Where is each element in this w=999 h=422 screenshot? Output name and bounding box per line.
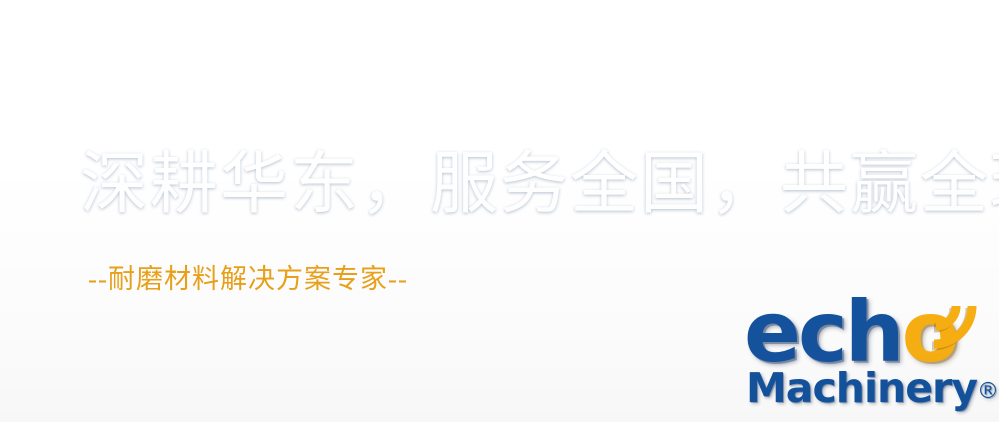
hero-banner: 深耕华东，服务全国，共赢全球 --耐磨材料解决方案专家-- echo Machi… xyxy=(0,0,999,422)
signal-arcs-icon xyxy=(920,292,984,356)
registered-trademark-icon: ® xyxy=(977,379,999,404)
logo-tagline-text: Machinery xyxy=(746,364,977,412)
banner-headline: 深耕华东，服务全国，共赢全球 xyxy=(80,150,999,218)
company-logo[interactable]: echo Machinery® xyxy=(744,296,994,422)
banner-subheadline: --耐磨材料解决方案专家-- xyxy=(88,266,408,293)
logo-tagline: Machinery® xyxy=(746,368,999,409)
